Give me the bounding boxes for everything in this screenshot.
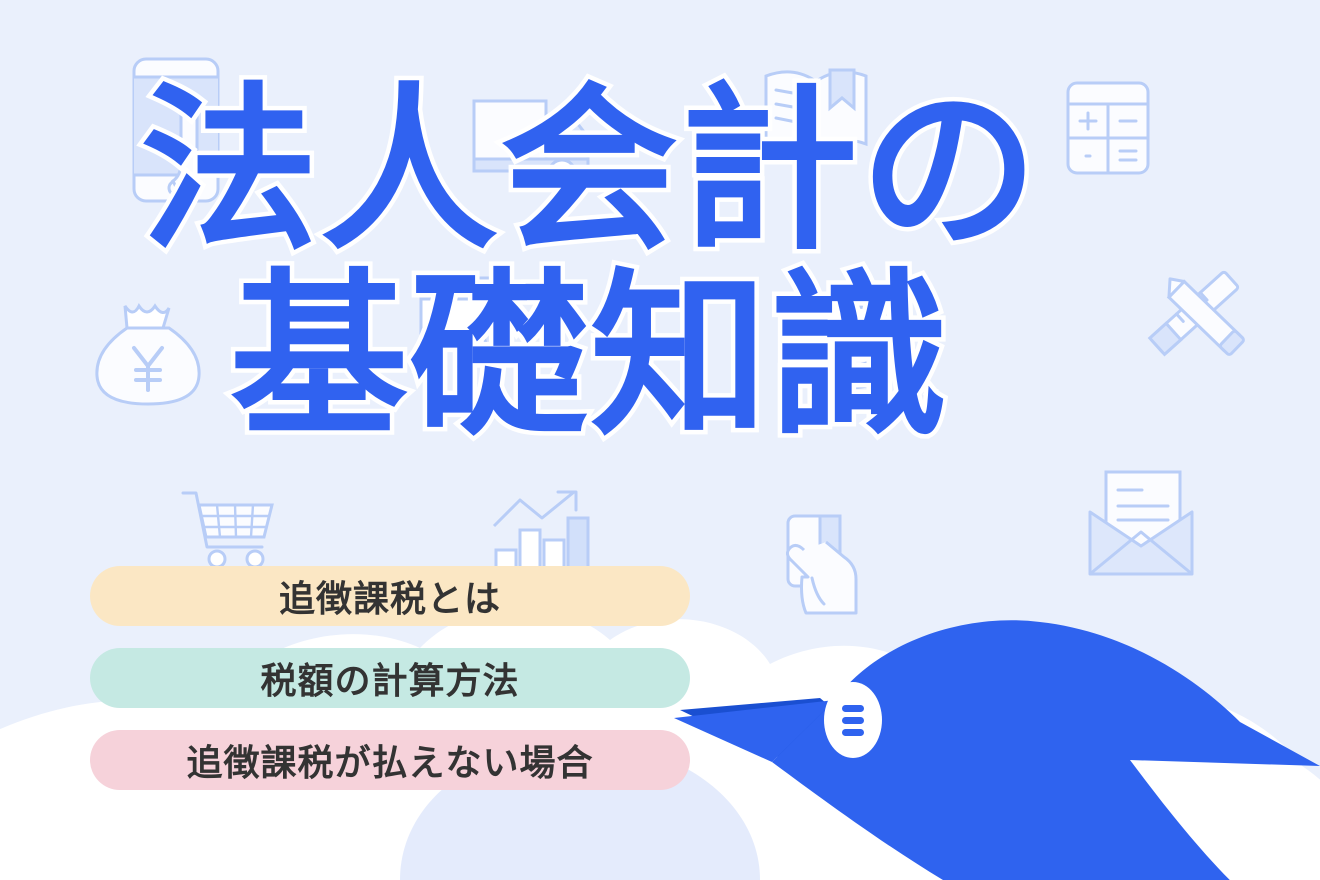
pill-label: 追徴課税とは (279, 570, 501, 622)
bird-mascot (660, 590, 1320, 880)
headline-line-2: 基礎知識 (0, 268, 1180, 446)
headline-line-1: 法人会計の (0, 82, 1180, 260)
pill-label: 税額の計算方法 (260, 652, 519, 704)
pill-label: 追徴課税が払えない場合 (186, 734, 593, 786)
pill-cannot-pay-case[interactable]: 追徴課税が払えない場合 (90, 730, 690, 790)
poster-canvas: 法人会計の 基礎知識 追徴課税とは 税額の計算方法 追徴課税が払えない場合 (0, 0, 1320, 880)
page-title: 法人会計の 基礎知識 (0, 82, 1180, 446)
pill-tax-calculation-method[interactable]: 税額の計算方法 (90, 648, 690, 708)
list-lines-icon (842, 705, 864, 736)
topic-pill-list: 追徴課税とは 税額の計算方法 追徴課税が払えない場合 (90, 566, 690, 812)
pill-what-is-additional-tax[interactable]: 追徴課税とは (90, 566, 690, 626)
